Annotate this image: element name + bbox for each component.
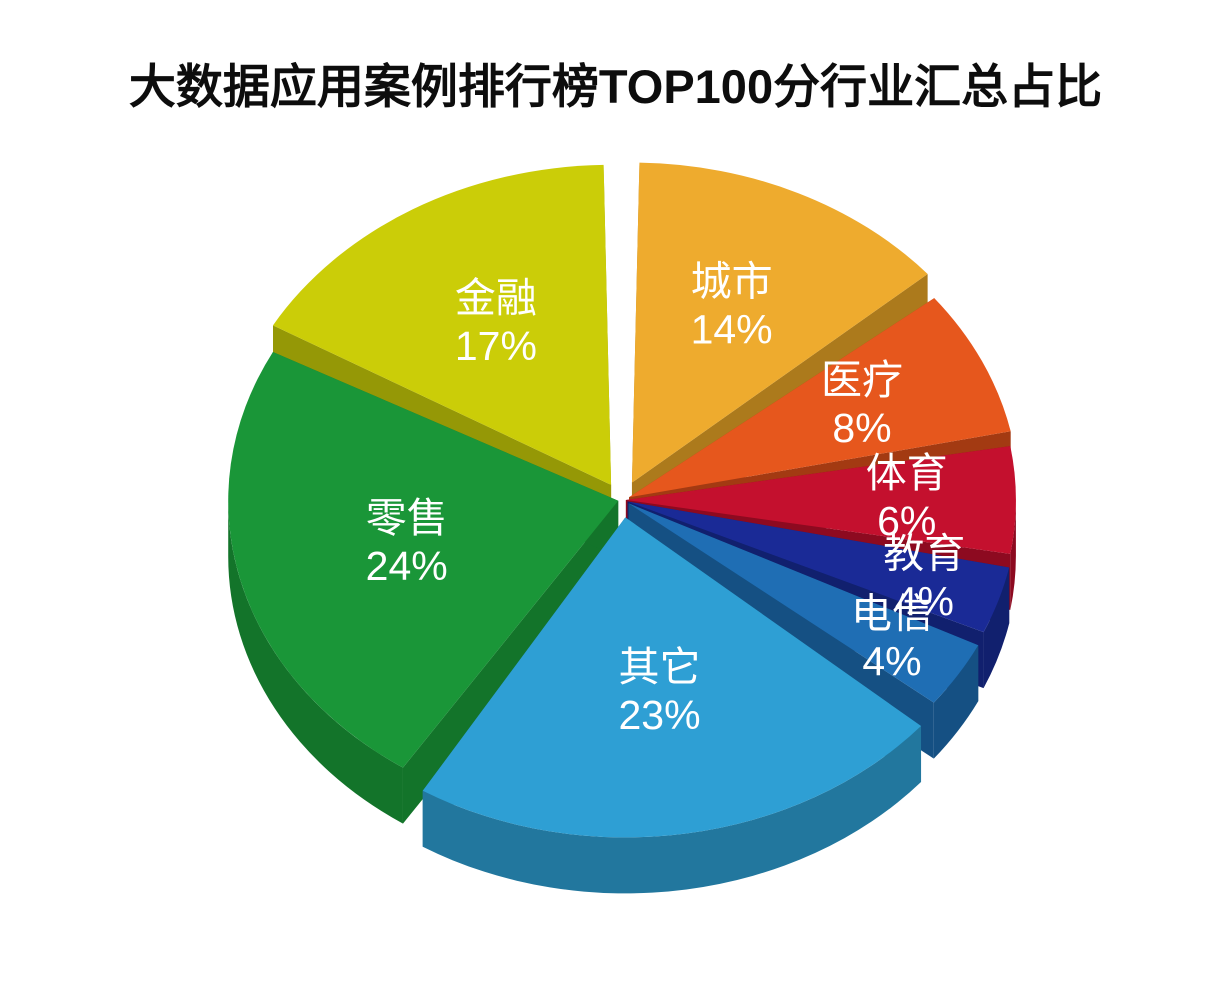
slice-label-name: 电信	[851, 590, 933, 636]
slice-label-name: 医疗	[821, 357, 903, 403]
slice-label-name: 其它	[619, 644, 701, 690]
slice-label-value: 24%	[366, 543, 448, 589]
slice-label-name: 城市	[691, 259, 773, 305]
slice-label-value: 4%	[862, 638, 921, 684]
slice-label-value: 14%	[691, 307, 773, 353]
chart-page: 大数据应用案例排行榜TOP100分行业汇总占比 城市14%医疗8%体育6%教育4…	[0, 0, 1231, 988]
slice-label-name: 体育	[866, 450, 948, 496]
slice-label-name: 金融	[455, 275, 537, 321]
slice-label-value: 23%	[618, 692, 700, 738]
pie-chart: 城市14%医疗8%体育6%教育4%电信4%其它23%零售24%金融17%	[0, 0, 1231, 988]
slice-label-value: 8%	[832, 405, 891, 451]
slice-label-name: 零售	[366, 495, 448, 541]
slice-label-name: 教育	[883, 530, 965, 576]
slice-label-value: 17%	[455, 323, 537, 369]
